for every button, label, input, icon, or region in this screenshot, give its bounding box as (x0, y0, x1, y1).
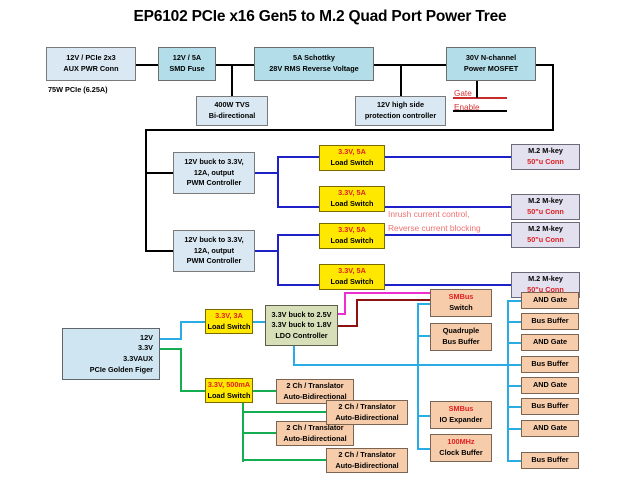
wire-schottky-to-mosfet (374, 64, 446, 66)
quad-buffer-line1: Quadruple (443, 326, 480, 337)
aux-load-switch-500ma-box: 3.3V, 500mA Load Switch (205, 378, 253, 403)
wire-logic-tap-5 (507, 385, 521, 387)
gf-line2: 3.3V (138, 343, 153, 354)
wire-18v-riser (356, 299, 358, 327)
tvs-line1: 400W TVS (214, 100, 249, 111)
xlat3-line2: Auto-Bidirectional (335, 413, 398, 424)
ls3a-name: Load Switch (208, 322, 251, 333)
wire-cyan-right-trunk (507, 300, 509, 462)
tvs-diode-box: 400W TVS Bi-directional (196, 96, 268, 126)
clock-buffer-box: 100MHz Clock Buffer (430, 434, 492, 462)
translator-4-box: 2 Ch / Translator Auto-Bidirectional (326, 448, 408, 473)
buck1-line2: 12A, output (194, 168, 234, 179)
logic-label-7: AND Gate (533, 423, 567, 434)
xlat3-line1: 2 Ch / Translator (338, 402, 395, 413)
clock-buffer-rating: 100MHz (447, 437, 474, 448)
wire-buck1-out (255, 172, 279, 174)
logic-box-5: AND Gate (521, 377, 579, 394)
schottky-line2: 28V RMS Reverse Voltage (269, 64, 359, 75)
logic-box-7: AND Gate (521, 420, 579, 437)
xlat2-line2: Auto-Bidirectional (283, 434, 346, 445)
ldo-line2: 3.3V buck to 1.8V (271, 320, 331, 331)
m2-load-switch-3-box: 3.3V, 5A Load Switch (319, 223, 385, 249)
wire-aux-to-fuse (136, 64, 158, 66)
wire-cyan-into-ls3a (180, 321, 205, 323)
wire-12v-to-buck1 (145, 172, 173, 174)
m2-load-switch-2-box: 3.3V, 5A Load Switch (319, 186, 385, 212)
ls500-rating: 3.3V, 500mA (208, 380, 250, 391)
wire-hotswap-tap-vert (400, 64, 402, 97)
ldo-controller-box: 3.3V buck to 2.5V 3.3V buck to 1.8V LDO … (265, 305, 338, 346)
logic-label-4: Bus Buffer (531, 359, 568, 370)
m2-connector-2-box: M.2 M-key 50"u Conn (511, 194, 580, 220)
smbus-switch-box: SMBus Switch (430, 289, 492, 317)
wire-gf-aux-out (160, 348, 182, 350)
gf-line4: PCIe Golden Figer (90, 365, 153, 376)
wire-green-xlat3-run (242, 411, 326, 413)
wire-logic-tap-2 (507, 321, 521, 323)
wire-buck2-to-ls4 (277, 284, 319, 286)
wire-buck2-to-ls3 (277, 234, 319, 236)
wire-green-xlat4-run (242, 459, 326, 461)
wire-logic-tap-7 (507, 428, 521, 430)
wire-18v-run (356, 299, 439, 301)
pcie-golden-finger-box: 12V 3.3V 3.3VAUX PCIe Golden Figer (62, 328, 160, 380)
wire-25v-run (344, 292, 439, 294)
logic-box-4: Bus Buffer (521, 356, 579, 373)
ls4-rating: 3.3V, 5A (338, 266, 366, 277)
mosfet-line1: 30V N-channel (466, 53, 516, 64)
logic-label-8: Bus Buffer (531, 455, 568, 466)
buck-controller-1-box: 12V buck to 3.3V, 12A, output PWM Contro… (173, 152, 255, 194)
conn2-line1: M.2 M-key (528, 196, 563, 207)
wire-gf-33v-riser (180, 321, 182, 340)
smbus-io-expander-box: SMBus IO Expander (430, 401, 492, 429)
aux-power-connector-box: 12V / PCIe 2x3 AUX PWR Conn (46, 47, 136, 81)
gate-label: Gate (454, 89, 472, 98)
m2-load-switch-4-box: 3.3V, 5A Load Switch (319, 264, 385, 290)
ls4-name: Load Switch (331, 277, 374, 288)
aux-conn-line2: AUX PWR Conn (63, 64, 118, 75)
tvs-line2: Bi-directional (209, 111, 256, 122)
m2-connector-1-box: M.2 M-key 50"u Conn (511, 144, 580, 170)
aux-load-switch-3a-box: 3.3V, 3A Load Switch (205, 309, 253, 334)
aux-power-caption: 75W PCIe (6.25A) (48, 85, 108, 94)
conn3-line2: 50"u Conn (527, 235, 564, 246)
conn1-line1: M.2 M-key (528, 146, 563, 157)
conn2-line2: 50"u Conn (527, 207, 564, 218)
quadruple-bus-buffer-box: Quadruple Bus Buffer (430, 323, 492, 351)
ls3-name: Load Switch (331, 236, 374, 247)
m2-load-switch-1-box: 3.3V, 5A Load Switch (319, 145, 385, 171)
wire-green-to-xlat2 (242, 432, 276, 434)
wire-logic-tap-8 (507, 460, 521, 462)
ldo-line3: LDO Controller (275, 331, 327, 342)
inrush-note-line2: Reverse current blocking (388, 223, 481, 233)
mosfet-line2: Power MOSFET (464, 64, 518, 75)
m2-connector-3-box: M.2 M-key 50"u Conn (511, 222, 580, 248)
ls3-rating: 3.3V, 5A (338, 225, 366, 236)
buck2-line1: 12V buck to 3.3V, (184, 235, 243, 246)
ls1-name: Load Switch (331, 158, 374, 169)
wire-18v-ldo-out (338, 325, 358, 327)
wire-12v-rail-down (145, 129, 147, 251)
wire-logic-tap-4 (507, 364, 521, 366)
wire-buck2-split-vert (277, 234, 279, 286)
enable-label: Enable (454, 103, 480, 112)
buck1-line3: PWM Controller (187, 178, 242, 189)
logic-box-3: AND Gate (521, 334, 579, 351)
fuse-line2: SMD Fuse (169, 64, 204, 75)
ldo-line1: 3.3V buck to 2.5V (271, 310, 331, 321)
logic-label-1: AND Gate (533, 295, 567, 306)
wire-ls1-to-conn1 (385, 156, 511, 158)
gf-line1: 12V (140, 333, 153, 344)
logic-label-2: Bus Buffer (531, 316, 568, 327)
wire-fuse-to-schottky (216, 64, 254, 66)
gf-line3: 3.3VAUX (123, 354, 153, 365)
wire-ls4-to-conn4 (385, 284, 511, 286)
translator-3-box: 2 Ch / Translator Auto-Bidirectional (326, 400, 408, 425)
conn1-line2: 50"u Conn (527, 157, 564, 168)
wire-gf-33v-out (160, 338, 182, 340)
wire-logic-tap-1 (507, 300, 521, 302)
wire-gf-aux-down (180, 348, 182, 392)
quad-buffer-line2: Bus Buffer (442, 337, 479, 348)
ls2-rating: 3.3V, 5A (338, 188, 366, 199)
diagram-title: EP6102 PCIe x16 Gen5 to M.2 Quad Port Po… (0, 8, 640, 26)
wire-tvs-tap-vert (231, 64, 233, 97)
logic-box-2: Bus Buffer (521, 313, 579, 330)
ls1-rating: 3.3V, 5A (338, 147, 366, 158)
logic-box-8: Bus Buffer (521, 452, 579, 469)
wire-buck1-split-vert (277, 156, 279, 208)
power-mosfet-box: 30V N-channel Power MOSFET (446, 47, 536, 81)
aux-conn-line1: 12V / PCIe 2x3 (66, 53, 116, 64)
wire-logic-tap-6 (507, 406, 521, 408)
inrush-note: Inrush current control, Reverse current … (388, 208, 481, 236)
wire-25v-riser (344, 292, 346, 315)
buck2-line2: 12A, output (194, 246, 234, 257)
xlat4-line2: Auto-Bidirectional (335, 461, 398, 472)
wire-buck1-to-ls1 (277, 156, 319, 158)
io-expander-rating: SMBus (449, 404, 474, 415)
logic-box-6: Bus Buffer (521, 398, 579, 415)
smd-fuse-box: 12V / 5A SMD Fuse (158, 47, 216, 81)
ls2-name: Load Switch (331, 199, 374, 210)
buck-controller-2-box: 12V buck to 3.3V, 12A, output PWM Contro… (173, 230, 255, 272)
wire-buck1-to-ls2 (277, 206, 319, 208)
clock-buffer-name: Clock Buffer (439, 448, 482, 459)
xlat1-line1: 2 Ch / Translator (286, 381, 343, 392)
xlat4-line1: 2 Ch / Translator (338, 450, 395, 461)
ls500-name: Load Switch (208, 391, 251, 402)
ls3a-rating: 3.3V, 3A (215, 311, 243, 322)
wire-cyan-mid-trunk (417, 303, 419, 450)
inrush-note-line1: Inrush current control, (388, 209, 469, 219)
buck1-line1: 12V buck to 3.3V, (184, 157, 243, 168)
wire-logic-tap-3 (507, 342, 521, 344)
wire-mosfet-out-down (552, 64, 554, 130)
wire-buck2-out (255, 250, 279, 252)
power-tree-diagram: EP6102 PCIe x16 Gen5 to M.2 Quad Port Po… (0, 0, 640, 480)
conn4-line1: M.2 M-key (528, 274, 563, 285)
hotswap-line2: protection controller (365, 111, 436, 122)
hotswap-controller-box: 12V high side protection controller (355, 96, 446, 126)
fuse-line1: 12V / 5A (173, 53, 201, 64)
logic-box-1: AND Gate (521, 292, 579, 309)
logic-label-5: AND Gate (533, 380, 567, 391)
io-expander-name: IO Expander (440, 415, 483, 426)
wire-main-12v-rail (145, 129, 554, 131)
conn3-line1: M.2 M-key (528, 224, 563, 235)
buck2-line3: PWM Controller (187, 256, 242, 267)
smbus-switch-rating: SMBus (449, 292, 474, 303)
schottky-line1: 5A Schottky (293, 53, 335, 64)
schottky-diode-box: 5A Schottky 28V RMS Reverse Voltage (254, 47, 374, 81)
wire-12v-to-buck2 (145, 250, 173, 252)
smbus-switch-name: Switch (449, 303, 473, 314)
wire-gf-aux-to-ls500 (180, 390, 205, 392)
wire-cyan-trunk-horizontal (293, 364, 510, 366)
logic-label-6: Bus Buffer (531, 401, 568, 412)
logic-label-3: AND Gate (533, 337, 567, 348)
hotswap-line1: 12V high side (377, 100, 424, 111)
